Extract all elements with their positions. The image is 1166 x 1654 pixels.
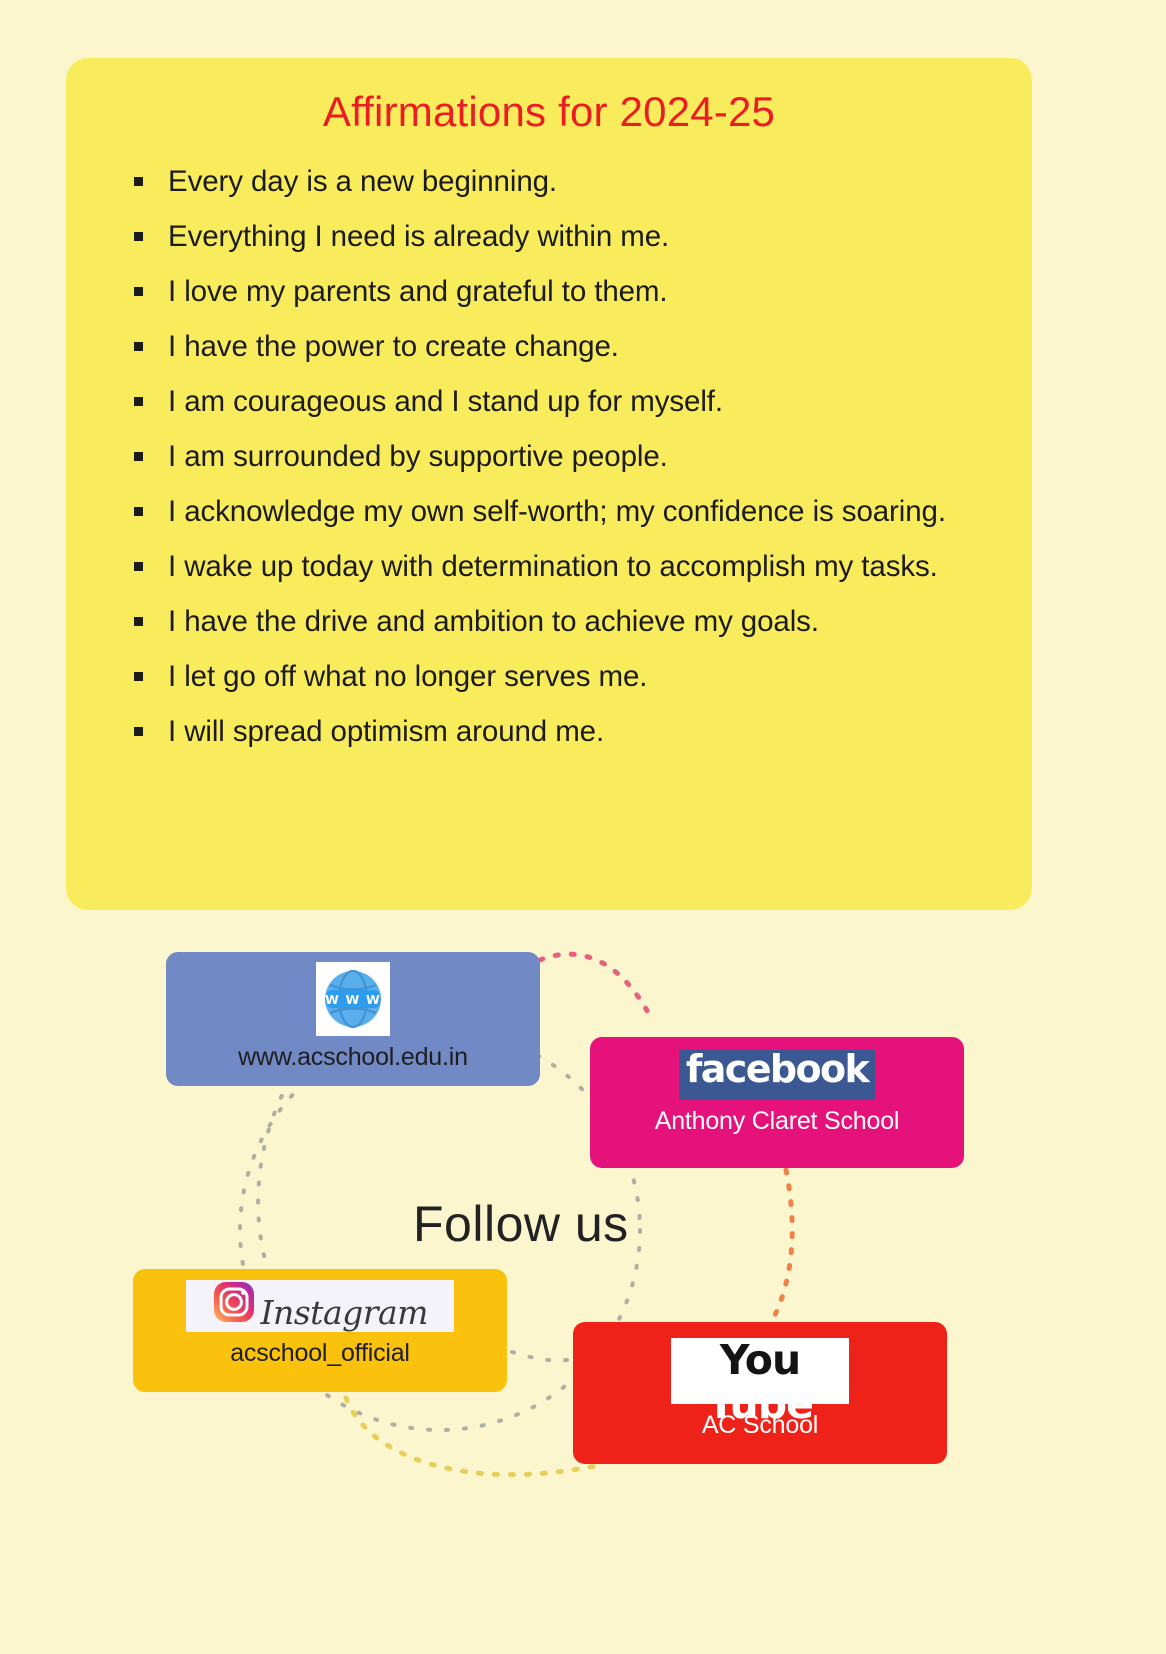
social-card-website[interactable]: W W W www.acschool.edu.in [166,952,540,1086]
bullet-icon [134,727,143,736]
list-item: I will spread optimism around me. [130,704,996,759]
www-globe-icon: W W W [316,962,390,1036]
instagram-logo: Instagram [186,1280,454,1332]
facebook-wordmark: facebook [686,1047,868,1091]
bullet-icon [134,617,143,626]
list-item-text: I love my parents and grateful to them. [168,275,668,308]
list-item: I am courageous and I stand up for mysel… [130,374,996,429]
list-item-text: I have the drive and ambition to achieve… [168,605,819,638]
bullet-icon [134,562,143,571]
svg-text:W W W: W W W [325,992,381,1007]
list-item: Every day is a new beginning. [130,154,996,209]
social-card-instagram[interactable]: Instagram acschool_official [133,1269,507,1392]
list-item: I acknowledge my own self-worth; my conf… [130,484,996,539]
list-item-text: I acknowledge my own self-worth; my conf… [168,495,946,528]
list-item-text: I am courageous and I stand up for mysel… [168,385,723,418]
list-item: I am surrounded by supportive people. [130,429,996,484]
bullet-icon [134,507,143,516]
affirmations-list: Every day is a new beginning. Everything… [96,154,1002,759]
list-item-text: Every day is a new beginning. [168,165,557,198]
website-url-label: www.acschool.edu.in [166,1042,540,1072]
youtube-wordmark-you: You [720,1336,800,1384]
bullet-icon [134,287,143,296]
list-item: I let go off what no longer serves me. [130,649,996,704]
list-item-text: Everything I need is already within me. [168,220,669,253]
facebook-logo: facebook [679,1050,875,1100]
list-item: I have the drive and ambition to achieve… [130,594,996,649]
follow-us-label: Follow us [413,1195,629,1253]
list-item-text: I let go off what no longer serves me. [168,660,647,693]
bullet-icon [134,232,143,241]
page-title: Affirmations for 2024-25 [96,88,1002,136]
list-item-text: I wake up today with determination to ac… [168,550,938,583]
bullet-icon [134,397,143,406]
facebook-handle-label: Anthony Claret School [590,1106,964,1136]
bullet-icon [134,672,143,681]
social-card-facebook[interactable]: facebook Anthony Claret School [590,1037,964,1168]
instagram-handle-label: acschool_official [133,1338,507,1368]
list-item-text: I have the power to create change. [168,330,619,363]
bullet-icon [134,452,143,461]
list-item: I have the power to create change. [130,319,996,374]
social-card-youtube[interactable]: You Tube AC School [573,1322,947,1464]
list-item: I wake up today with determination to ac… [130,539,996,594]
list-item: Everything I need is already within me. [130,209,996,264]
instagram-camera-icon [212,1280,256,1324]
list-item: I love my parents and grateful to them. [130,264,996,319]
youtube-channel-label: AC School [573,1410,947,1440]
list-item-text: I am surrounded by supportive people. [168,440,668,473]
instagram-wordmark: Instagram [260,1293,428,1332]
bullet-icon [134,177,143,186]
list-item-text: I will spread optimism around me. [168,715,604,748]
bullet-icon [134,342,143,351]
affirmations-card: Affirmations for 2024-25 Every day is a … [66,58,1032,910]
youtube-logo: You Tube [671,1338,849,1404]
